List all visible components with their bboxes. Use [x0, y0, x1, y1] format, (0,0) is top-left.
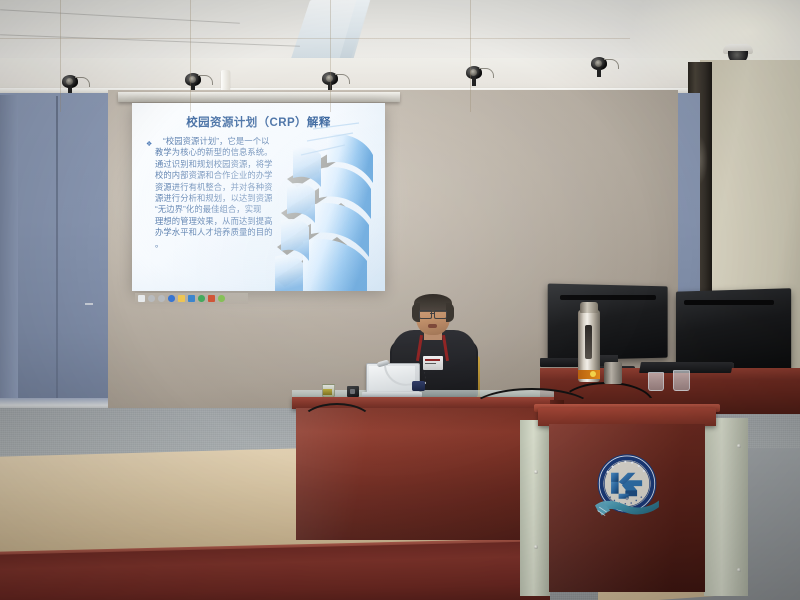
thermos-logo-icon	[590, 371, 596, 377]
platform-tile-seam	[330, 0, 331, 112]
steel-cup[interactable]	[604, 362, 622, 384]
powerpoint-icon[interactable]	[208, 295, 215, 302]
app-green-icon[interactable]	[218, 295, 225, 302]
platform-tile-seam	[0, 38, 630, 39]
ceiling-spotlight	[62, 75, 79, 95]
panel-screw	[534, 545, 538, 549]
platform-tile-seam	[190, 0, 191, 112]
thermos-label	[578, 370, 600, 379]
presenter-mouth	[428, 324, 437, 328]
file-explorer-icon[interactable]	[178, 295, 185, 302]
presenter-hair-side	[446, 303, 454, 322]
presentation-slide: 校园资源计划（CRP）解释 ❖ “校园资源计划”，它是一个以 教学为核心的新型的…	[132, 103, 385, 291]
lecture-room-photo: 校园资源计划（CRP）解释 ❖ “校园资源计划”，它是一个以 教学为核心的新型的…	[0, 0, 800, 600]
panel-wall-edge	[0, 95, 18, 407]
id-badge-text-line	[425, 363, 436, 364]
slide-artwork-icon	[241, 121, 385, 291]
desk-sheen	[296, 408, 550, 540]
taskbar-active-indicator	[85, 303, 93, 305]
panel-screw	[737, 444, 741, 448]
chrome-icon[interactable]	[198, 295, 205, 302]
panel-screw	[737, 568, 741, 572]
slide-bullet-icon: ❖	[146, 141, 152, 148]
panel-seam	[56, 96, 58, 408]
plastic-cup[interactable]	[673, 370, 690, 391]
ceiling-sensor	[221, 70, 230, 92]
browser-icon[interactable]	[168, 295, 175, 302]
platform-tile-seam	[60, 0, 61, 112]
thermos-cap[interactable]	[580, 302, 598, 313]
windows-taskbar[interactable]	[135, 293, 248, 304]
microphone-base	[412, 381, 425, 391]
start-icon[interactable]	[138, 295, 145, 302]
glasses-icon	[419, 310, 432, 319]
glasses-icon	[434, 310, 447, 319]
monitor-vent	[684, 300, 774, 305]
monitor-vent	[560, 295, 656, 300]
podium-side-panel	[704, 418, 748, 596]
glasses-bridge	[430, 313, 434, 314]
id-badge-text-line	[425, 359, 440, 361]
school-emblem-icon	[585, 445, 669, 529]
search-icon[interactable]	[148, 295, 155, 302]
thermos-window	[585, 325, 592, 359]
app-blue-icon[interactable]	[188, 295, 195, 302]
plastic-cup[interactable]	[648, 372, 664, 391]
tea-liquid	[323, 389, 332, 395]
platform-tile-seam	[470, 0, 471, 112]
projection-screen: 校园资源计划（CRP）解释 ❖ “校园资源计划”，它是一个以 教学为核心的新型的…	[132, 103, 385, 291]
panel-screw	[534, 470, 538, 474]
podium-side-panel	[520, 420, 550, 596]
task-view-icon[interactable]	[158, 295, 165, 302]
ceiling-spotlight	[591, 57, 608, 77]
black-device-screen	[350, 389, 355, 394]
ceiling-spotlight	[466, 66, 483, 86]
projection-screen-housing	[118, 92, 400, 102]
